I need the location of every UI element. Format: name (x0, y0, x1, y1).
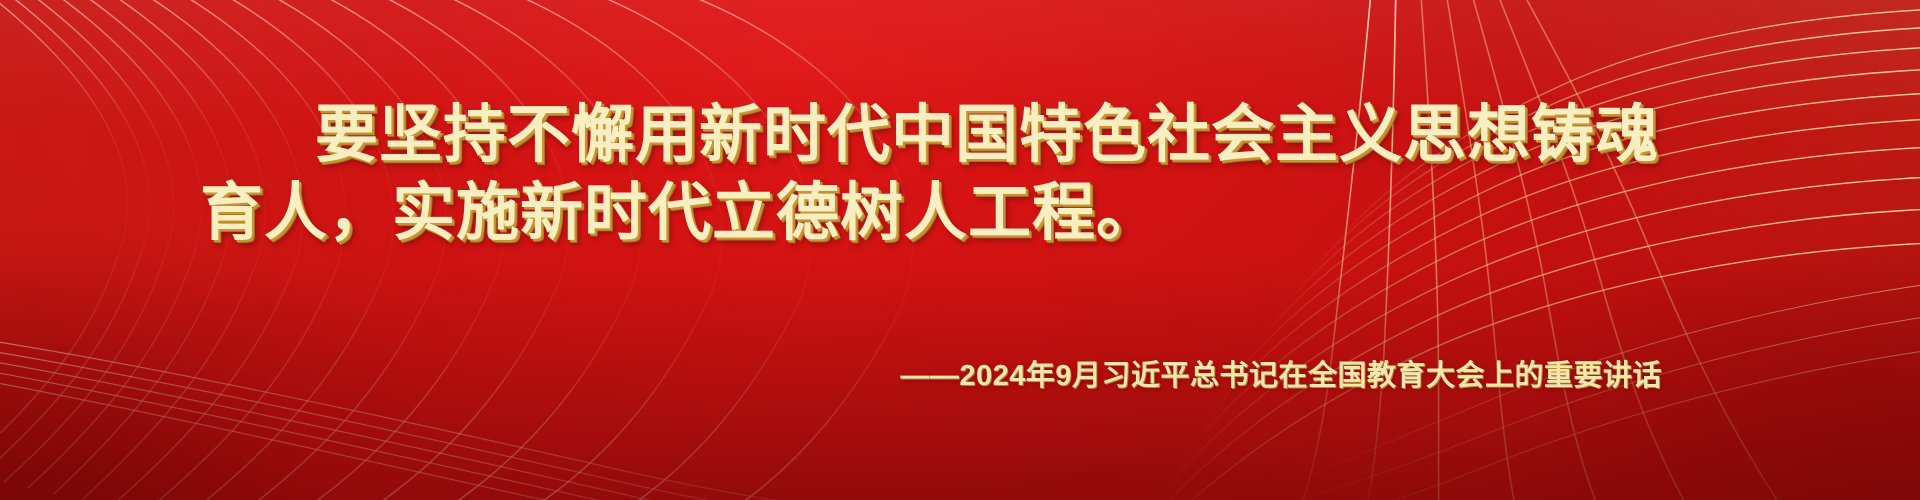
propaganda-banner: 要坚持不懈用新时代中国特色社会主义思想铸魂 育人，实施新时代立德树人工程。 ——… (0, 0, 1920, 500)
quote-attribution: ——2024年9月习近平总书记在全国教育大会上的重要讲话 (900, 352, 1662, 394)
banner-content: 要坚持不懈用新时代中国特色社会主义思想铸魂 育人，实施新时代立德树人工程。 ——… (0, 0, 1920, 500)
headline-line-1: 要坚持不懈用新时代中国特色社会主义思想铸魂 (0, 96, 1920, 174)
headline-line-2: 育人，实施新时代立德树人工程。 (0, 174, 1920, 252)
headline-quote: 要坚持不懈用新时代中国特色社会主义思想铸魂 育人，实施新时代立德树人工程。 (0, 96, 1920, 252)
